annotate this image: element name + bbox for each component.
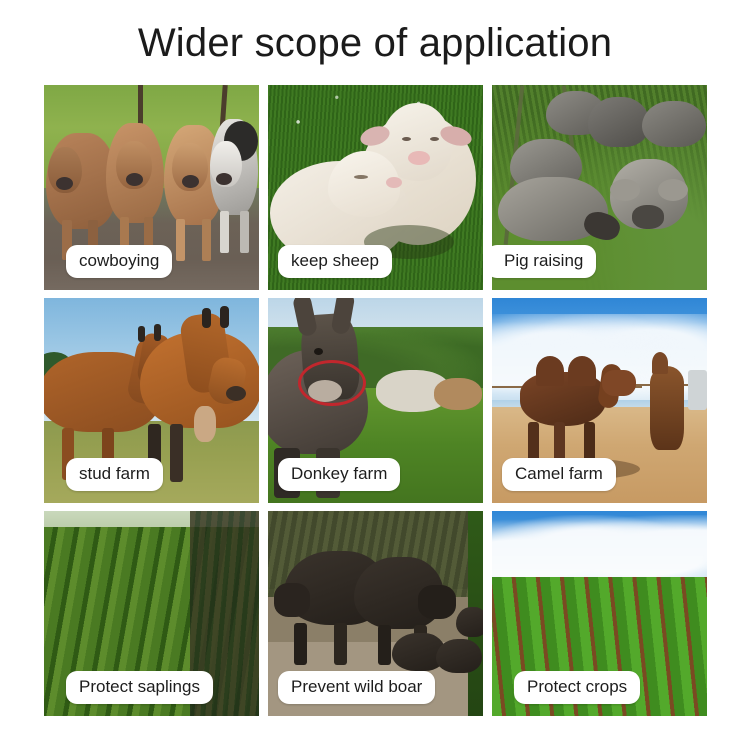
cell-label-chip: Pig raising [492,245,596,278]
boar-piglet [436,639,482,673]
distant-donkey-brown [434,378,482,410]
grid-cell-cowboying[interactable]: cowboying [44,85,259,290]
boar-piglet [456,607,483,637]
boar-leg [294,623,307,665]
sheep-nose [386,177,402,188]
grid-cell-camel-farm[interactable]: Camel farm [492,298,707,503]
boar-leg [334,623,347,665]
grid-cell-keep-sheep[interactable]: keep sheep [268,85,483,290]
pig-ear [610,179,640,201]
horse-ear [202,308,211,328]
boar-leg [378,625,391,665]
cell-label-chip: Prevent wild boar [278,671,435,704]
cow-muzzle [182,175,199,188]
cow-leg [176,219,185,261]
cell-label-chip: Protect saplings [66,671,213,704]
horse-muzzle [226,386,246,401]
application-scope-grid: cowboying keep sheep [44,85,706,715]
distant-foal [194,406,216,442]
pig-snout [632,205,664,229]
sheep-eye [430,137,439,141]
grid-cell-donkey-farm[interactable]: Donkey farm [268,298,483,503]
cow-leg [220,211,229,253]
cell-label-chip: Donkey farm [278,458,400,491]
pig-body [588,97,650,147]
cell-label-chip: Protect crops [514,671,640,704]
pig-body [642,101,706,147]
red-halter [298,360,366,406]
camel-hump [568,356,596,386]
boar-head [418,585,456,619]
shed [688,370,707,410]
horse-ear [220,306,229,328]
boar-head [274,583,310,617]
cow-muzzle [56,177,73,190]
horse-ear [138,326,145,342]
camel-hump [652,352,668,374]
cell-label-chip: stud farm [66,458,163,491]
pig-ear [658,179,688,201]
grid-cell-pig-raising[interactable]: Pig raising [492,85,707,290]
cell-label-chip: keep sheep [278,245,392,278]
camel-body-rear [650,366,684,450]
donkey-eye [314,348,323,355]
clouds [492,515,707,577]
page-title: Wider scope of application [0,20,750,66]
cow-leg [202,219,211,261]
cell-label-chip: cowboying [66,245,172,278]
cow-muzzle [216,173,232,185]
horse-leg [170,424,183,482]
grid-cell-protect-saplings[interactable]: Protect saplings [44,511,259,716]
grid-cell-stud-farm[interactable]: stud farm [44,298,259,503]
cow-muzzle [126,173,143,186]
camel-hump [536,356,564,386]
grid-cell-protect-crops[interactable]: Protect crops [492,511,707,716]
horse-ear [154,324,161,341]
camel-head [602,370,636,396]
cow-leg [240,211,249,253]
sheep-eye [354,175,368,179]
sheep-nose [408,151,430,165]
poster-canvas: Wider scope of application [0,0,750,750]
cell-label-chip: Camel farm [502,458,616,491]
grid-cell-prevent-wild-boar[interactable]: Prevent wild boar [268,511,483,716]
sheep-eye [402,137,411,141]
